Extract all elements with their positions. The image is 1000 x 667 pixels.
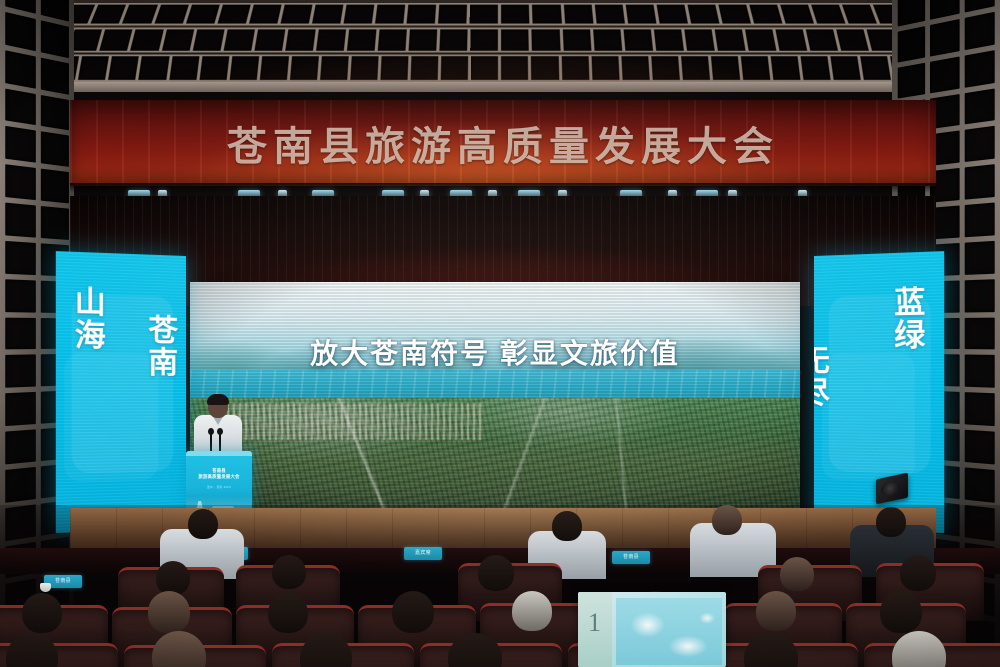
brochure-number: 1: [588, 608, 601, 638]
brochure-map: 1: [578, 592, 726, 667]
left-led-banner: 山海 苍南: [56, 251, 186, 533]
attendee-head: [478, 555, 514, 591]
podium-and-speaker: 苍南县 旅游高质量发展大会 温州 · 苍南 2023: [186, 396, 252, 518]
banner-headline: 苍南县旅游高质量发展大会: [70, 100, 936, 186]
attendee-head: [22, 593, 62, 633]
screen-vignette: [190, 282, 800, 514]
attendee-head: [900, 555, 936, 591]
attendee-head: [392, 591, 434, 633]
attendee-head: [880, 591, 922, 633]
brochure-map-graphic: [616, 598, 722, 665]
attendee-head: [712, 505, 742, 535]
stage-banner: 苍南县旅游高质量发展大会: [70, 100, 936, 186]
teacup: [40, 583, 51, 592]
attendee-head: [552, 511, 582, 541]
attendee-head: [148, 591, 190, 633]
attendee-head: [188, 509, 218, 539]
right-led-column-2: 无尽: [814, 346, 830, 529]
conference-stage-photo: 苍南县旅游高质量发展大会: [0, 0, 1000, 667]
left-led-calligraphy: 山海 苍南: [56, 251, 186, 533]
podium-top-surface: [186, 451, 252, 456]
attendee-head: [272, 555, 306, 589]
audience-area: 苍南县 代表席 嘉宾席 苍南县 代表席 ER: [0, 505, 1000, 667]
attendee-head: [780, 557, 814, 591]
attendee-head: [512, 591, 552, 631]
desk-nameplate: 苍南县: [612, 551, 650, 564]
speaker-hair: [207, 394, 229, 405]
left-led-column-1: 山海: [75, 287, 114, 532]
main-led-screen: 放大苍南符号 彰显文旅价值: [190, 282, 800, 514]
attendee-head: [268, 593, 308, 633]
attendee-head: [756, 591, 796, 631]
desk-nameplate: 嘉宾席: [404, 547, 442, 560]
attendee-head: [156, 561, 190, 595]
microphone-icon: [219, 432, 221, 452]
podium-subtitle: 旅游高质量发展大会: [186, 474, 252, 480]
podium-footnote: 温州 · 苍南 2023: [186, 485, 252, 489]
microphone-icon: [210, 432, 212, 452]
attendee-head: [876, 507, 906, 537]
left-led-column-2: 苍南: [148, 315, 186, 529]
screen-headline: 放大苍南符号 彰显文旅价值: [190, 332, 800, 372]
